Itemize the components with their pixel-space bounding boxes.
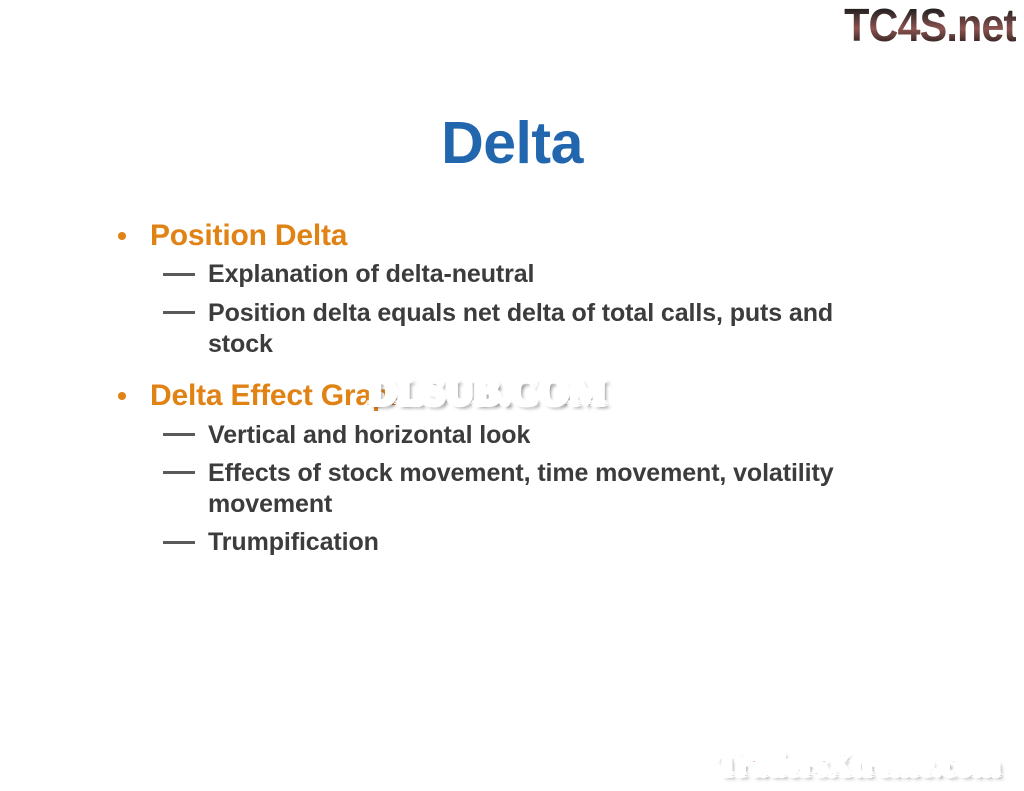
sub-bullet-item: Trumpification — [108, 527, 898, 558]
sub-bullet-label: Effects of stock movement, time movement… — [208, 459, 834, 518]
watermark-dlsub-label: DLSUB.COM — [368, 371, 606, 413]
em-dash-icon — [163, 541, 195, 544]
em-dash-icon — [163, 311, 195, 314]
sub-bullet-label: Explanation of delta-neutral — [208, 260, 534, 288]
bullet-heading-position-delta: Position Delta — [108, 218, 898, 253]
sub-bullet-item: Position delta equals net delta of total… — [108, 298, 898, 361]
watermark-dlsub: DLSUB.COM — [368, 373, 606, 411]
bullet-dot-icon — [118, 392, 126, 400]
em-dash-icon — [163, 471, 195, 474]
sub-bullet-label: Vertical and horizontal look — [208, 421, 530, 449]
sub-bullet-item: Effects of stock movement, time movement… — [108, 458, 898, 521]
site-logo-tc4s: TC4S.net — [844, 2, 1016, 48]
sub-bullet-item: Explanation of delta-neutral — [108, 259, 898, 290]
slide-title: Delta — [0, 113, 1024, 175]
sub-bullet-item: Vertical and horizontal look — [108, 420, 898, 451]
watermark-tradersxtreme: TradersXtreme.com — [716, 749, 1000, 782]
bullet-heading-label: Position Delta — [150, 219, 347, 252]
bullet-group-position-delta: Position Delta Explanation of delta-neut… — [108, 218, 898, 360]
slide-canvas: TC4S.net Delta Position Delta Explanatio… — [0, 0, 1024, 791]
em-dash-icon — [163, 273, 195, 276]
sub-bullet-label: Trumpification — [208, 528, 379, 556]
bullet-dot-icon — [118, 232, 126, 240]
sub-bullet-label: Position delta equals net delta of total… — [208, 299, 833, 358]
watermark-tradersxtreme-label: TradersXtreme.com — [716, 747, 1000, 783]
em-dash-icon — [163, 433, 195, 436]
